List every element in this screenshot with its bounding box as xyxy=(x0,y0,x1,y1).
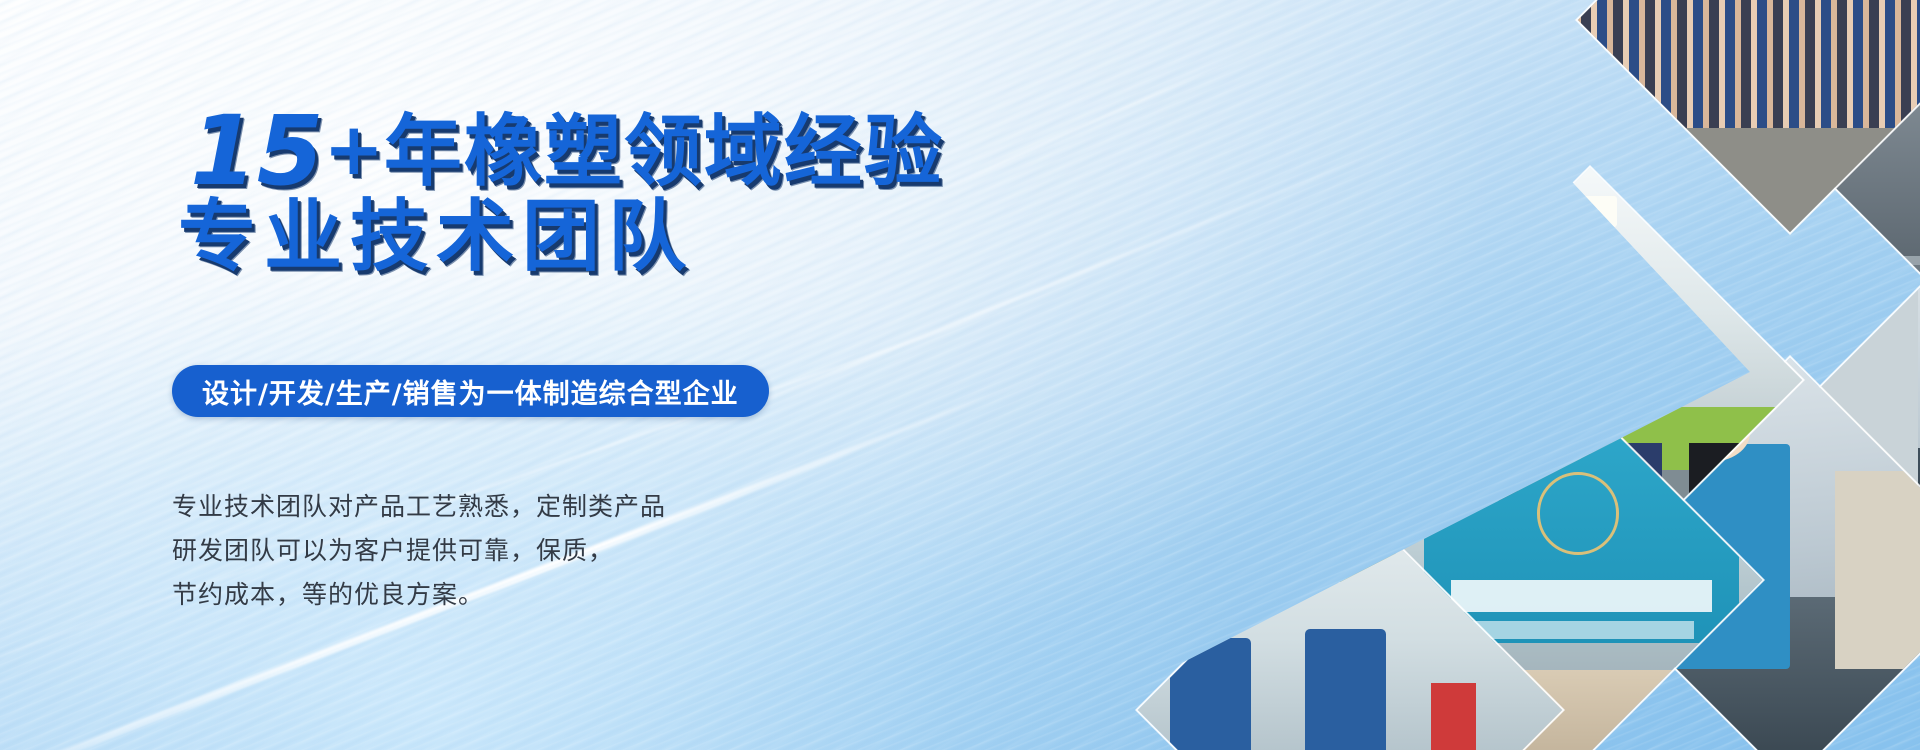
headline-plus-sign: + xyxy=(324,107,384,191)
tagline-pill-badge: 设计/开发/生产/销售为一体制造综合型企业 xyxy=(172,365,769,417)
headline-line-1: 15+年橡塑领域经验 xyxy=(190,103,944,199)
description-line-2: 研发团队可以为客户提供可靠，保质， xyxy=(172,529,666,573)
headline-number: 15 xyxy=(190,95,324,207)
headline-line-1-text: 年橡塑领域经验 xyxy=(384,107,944,197)
text-block: 15+年橡塑领域经验 专业技术团队 设计/开发/生产/销售为一体制造综合型企业 … xyxy=(0,0,960,750)
headline-line-2: 专业技术团队 xyxy=(178,198,694,276)
tagline-pill-label: 设计/开发/生产/销售为一体制造综合型企业 xyxy=(202,372,739,411)
description-line-1: 专业技术团队对产品工艺熟悉，定制类产品 xyxy=(172,485,666,529)
description-paragraph: 专业技术团队对产品工艺熟悉，定制类产品 研发团队可以为客户提供可靠，保质， 节约… xyxy=(172,485,666,617)
description-line-3: 节约成本，等的优良方案。 xyxy=(172,573,666,617)
promo-banner: 15+年橡塑领域经验 专业技术团队 设计/开发/生产/销售为一体制造综合型企业 … xyxy=(0,0,1920,750)
